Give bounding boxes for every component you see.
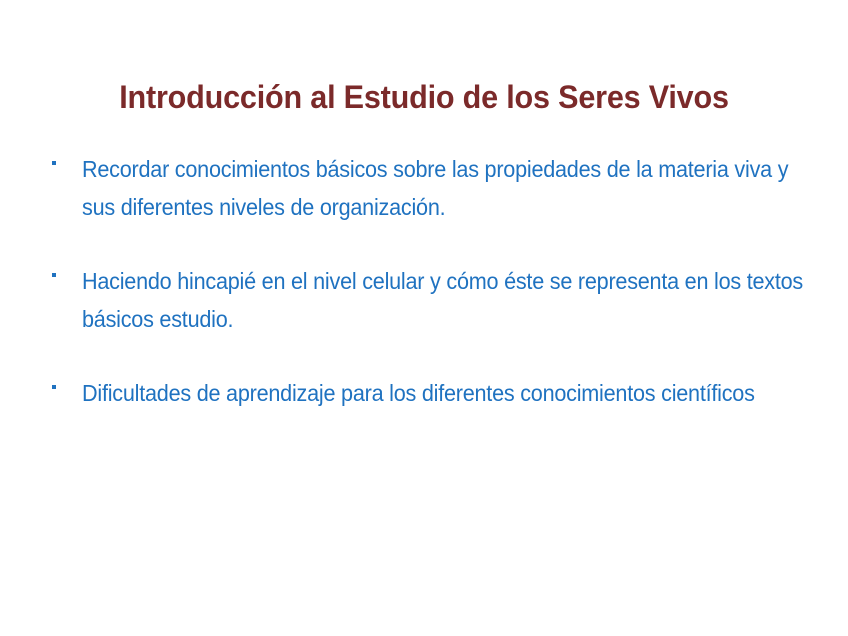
slide-canvas: Introducción al Estudio de los Seres Viv…: [0, 0, 848, 636]
page-title: Introducción al Estudio de los Seres Viv…: [19, 76, 829, 118]
list-item[interactable]: Haciendo hincapié en el nivel celular y …: [44, 262, 824, 338]
square-bullet-icon: [52, 273, 56, 277]
square-bullet-icon: [52, 385, 56, 389]
list-item-label: Recordar conocimientos básicos sobre las…: [82, 150, 824, 226]
list-item-label: Dificultades de aprendizaje para los dif…: [82, 374, 824, 412]
list-item[interactable]: Recordar conocimientos básicos sobre las…: [44, 150, 824, 226]
bullet-list: Recordar conocimientos básicos sobre las…: [44, 150, 824, 412]
list-item[interactable]: Dificultades de aprendizaje para los dif…: [44, 374, 824, 412]
square-bullet-icon: [52, 161, 56, 165]
list-item-label: Haciendo hincapié en el nivel celular y …: [82, 262, 824, 338]
